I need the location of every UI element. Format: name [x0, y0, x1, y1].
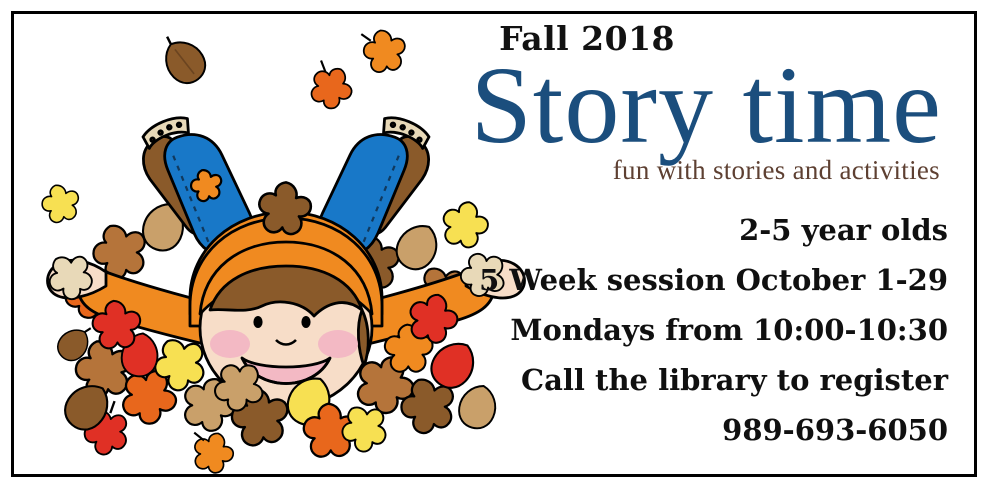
detail-schedule: Mondays from 10:00-10:30: [428, 316, 948, 345]
event-details: 2-5 year olds 5 Week session October 1-2…: [428, 216, 948, 445]
storytime-flyer: Fall 2018 Story time fun with stories an…: [0, 0, 1000, 499]
detail-session-dates: 5 Week session October 1-29: [428, 266, 948, 295]
detail-phone-number: 989-693-6050: [428, 416, 948, 445]
detail-age-range: 2-5 year olds: [428, 216, 948, 245]
headline-group: Fall 2018 Story time fun with stories an…: [420, 22, 950, 186]
page-title: Story time: [420, 49, 942, 161]
detail-registration: Call the library to register: [428, 366, 948, 395]
